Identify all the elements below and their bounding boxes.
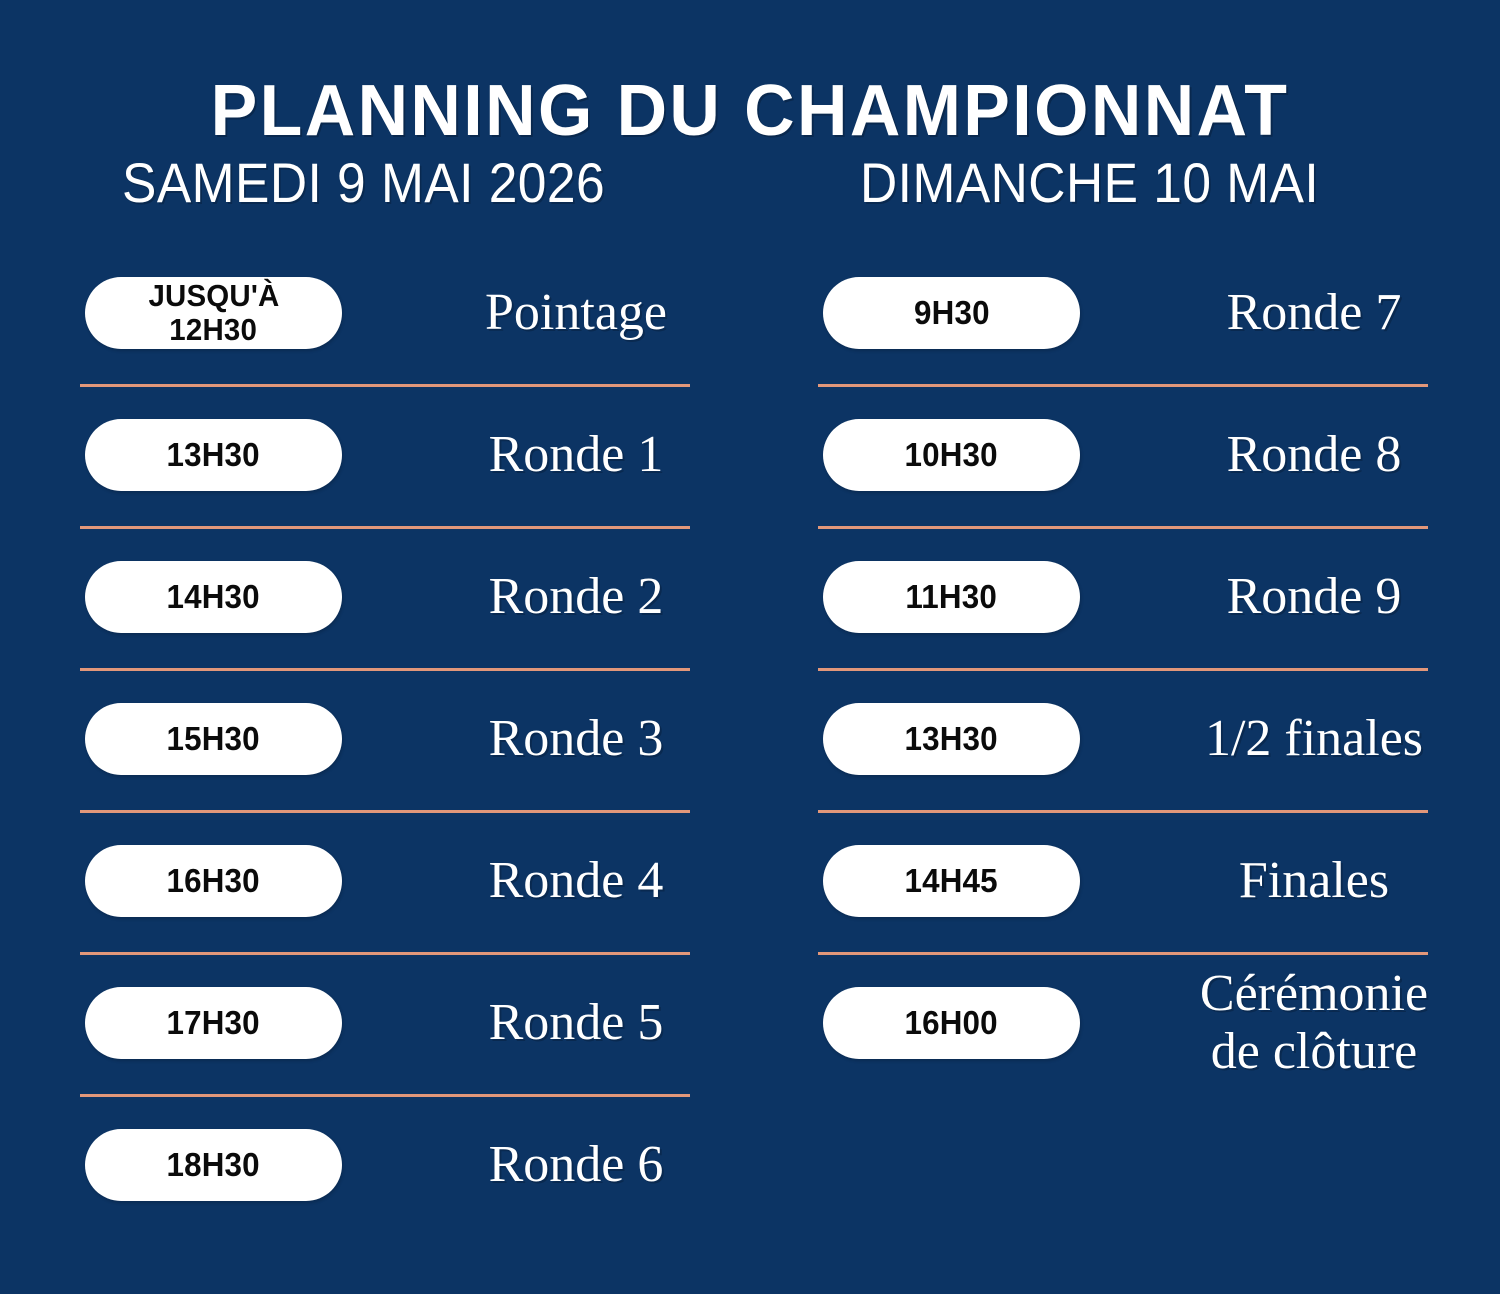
time-badge: 13H30 [823,703,1080,775]
day-header-sunday: DIMANCHE 10 MAI [860,150,1465,216]
time-badge: 16H00 [823,987,1080,1059]
schedule-columns: SAMEDI 9 MAI 2026 JUSQU'À12H30Pointage13… [0,150,1500,1290]
time-badge: 14H30 [85,561,342,633]
time-badge: 15H30 [85,703,342,775]
event-label: Ronde 8 [1080,427,1500,483]
event-label: Ronde 9 [1080,569,1500,625]
event-label: Pointage [342,285,780,341]
schedule-row: 14H30Ronde 2 [80,526,780,668]
row-divider [80,384,690,387]
time-badge: 14H45 [823,845,1080,917]
time-badge: 16H30 [85,845,342,917]
row-divider [80,1094,690,1097]
time-badge-line: 16H00 [905,1005,998,1041]
event-label: Ronde 2 [342,569,780,625]
time-badge-line: JUSQU'À [148,279,279,313]
time-badge-line: 16H30 [167,863,260,899]
row-divider [818,810,1428,813]
event-label-line: Finales [1120,853,1500,909]
time-badge-line: 9H30 [914,295,990,331]
event-label-line: Ronde 2 [382,569,770,625]
event-label-line: Ronde 3 [382,711,770,767]
event-label-line: de clôture [1120,1023,1500,1081]
event-label-line: Ronde 7 [1120,285,1500,341]
event-label: Ronde 7 [1080,285,1500,341]
schedule-row: 15H30Ronde 3 [80,668,780,810]
event-label-line: Cérémonie [1120,965,1500,1023]
time-badge: 18H30 [85,1129,342,1201]
time-badge-line: 10H30 [905,437,998,473]
day-header-saturday: SAMEDI 9 MAI 2026 [122,150,727,216]
time-badge-line: 14H45 [905,863,998,899]
time-badge: 11H30 [823,561,1080,633]
row-divider [818,952,1428,955]
page-title: PLANNING DU CHAMPIONNAT [23,66,1478,156]
schedule-rows-saturday: JUSQU'À12H30Pointage13H30Ronde 114H30Ron… [80,242,780,1236]
event-label-line: Ronde 1 [382,427,770,483]
time-badge-line: 11H30 [906,579,998,615]
row-divider [80,668,690,671]
time-badge: 9H30 [823,277,1080,349]
schedule-rows-sunday: 9H30Ronde 710H30Ronde 811H30Ronde 913H30… [818,242,1500,1094]
time-badge: 13H30 [85,419,342,491]
row-divider [818,526,1428,529]
event-label-line: Ronde 9 [1120,569,1500,625]
time-badge: 17H30 [85,987,342,1059]
time-badge: 10H30 [823,419,1080,491]
event-label: Cérémoniede clôture [1080,965,1500,1081]
event-label-line: Ronde 5 [382,995,770,1051]
event-label-line: Ronde 6 [382,1137,770,1193]
schedule-row: 13H301/2 finales [818,668,1500,810]
schedule-row: 18H30Ronde 6 [80,1094,780,1236]
row-divider [80,810,690,813]
time-badge-line: 15H30 [167,721,260,757]
time-badge-line: 18H30 [167,1147,260,1183]
row-divider [818,668,1428,671]
time-badge-line: 13H30 [167,437,260,473]
row-divider [80,526,690,529]
time-badge-line: 13H30 [905,721,998,757]
schedule-row: 16H00Cérémoniede clôture [818,952,1500,1094]
row-divider [818,384,1428,387]
event-label: Ronde 4 [342,853,780,909]
row-divider [80,952,690,955]
event-label: 1/2 finales [1080,711,1500,767]
event-label: Ronde 6 [342,1137,780,1193]
event-label: Ronde 1 [342,427,780,483]
event-label-line: Pointage [382,285,770,341]
schedule-row: JUSQU'À12H30Pointage [80,242,780,384]
schedule-row: 9H30Ronde 7 [818,242,1500,384]
event-label-line: 1/2 finales [1120,711,1500,767]
schedule-row: 16H30Ronde 4 [80,810,780,952]
schedule-row: 13H30Ronde 1 [80,384,780,526]
time-badge-line: 17H30 [167,1005,260,1041]
event-label-line: Ronde 4 [382,853,770,909]
schedule-poster: PLANNING DU CHAMPIONNAT SAMEDI 9 MAI 202… [0,0,1500,1294]
event-label: Finales [1080,853,1500,909]
schedule-row: 17H30Ronde 5 [80,952,780,1094]
time-badge-line: 12H30 [170,313,258,347]
event-label: Ronde 5 [342,995,780,1051]
schedule-column-saturday: SAMEDI 9 MAI 2026 JUSQU'À12H30Pointage13… [80,150,780,1236]
event-label-line: Ronde 8 [1120,427,1500,483]
time-badge-line: 14H30 [167,579,260,615]
schedule-column-sunday: DIMANCHE 10 MAI 9H30Ronde 710H30Ronde 81… [818,150,1500,1094]
schedule-row: 11H30Ronde 9 [818,526,1500,668]
schedule-row: 14H45Finales [818,810,1500,952]
time-badge: JUSQU'À12H30 [85,277,342,349]
schedule-row: 10H30Ronde 8 [818,384,1500,526]
event-label: Ronde 3 [342,711,780,767]
